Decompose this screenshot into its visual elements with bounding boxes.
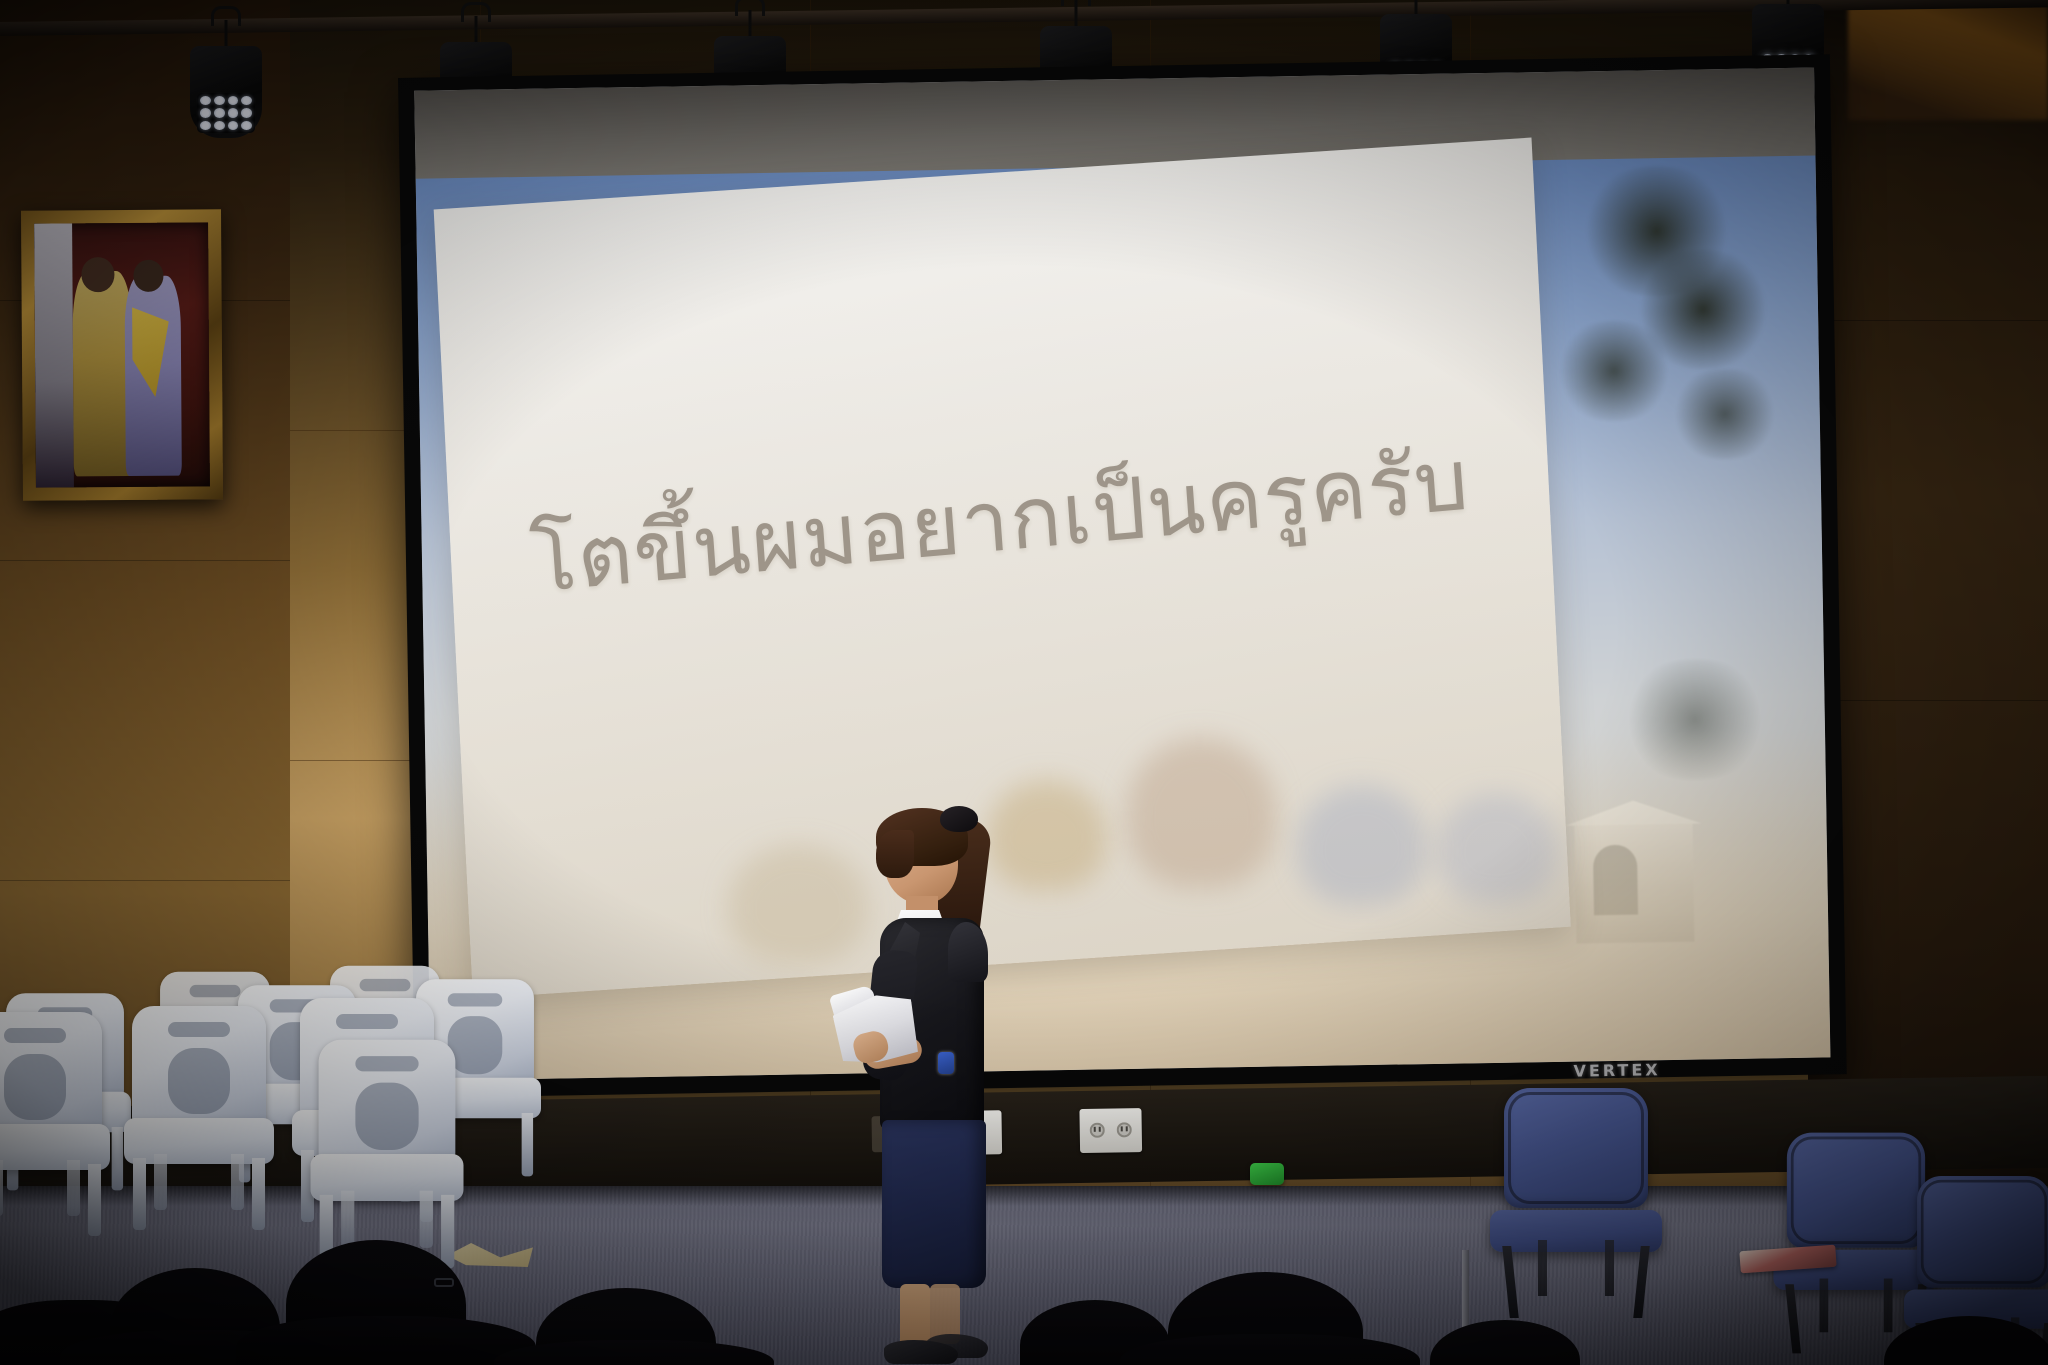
slide-title-text: โตขึ้นผมอยากเป็นครูครับ (448, 425, 1551, 620)
projected-slide: โตขึ้นผมอยากเป็นครูครับ (414, 68, 1830, 1081)
wall-accent-light (1848, 0, 2048, 120)
blue-chair-1[interactable] (1490, 1088, 1662, 1318)
presenter-badge (938, 1052, 954, 1074)
student-presenter (830, 800, 1030, 1365)
projection-screen: โตขึ้นผมอยากเป็นครูครับ VERTEX (398, 54, 1847, 1098)
royal-portrait (21, 209, 223, 500)
green-clip-object (1250, 1163, 1284, 1185)
glasses-icon (434, 1278, 454, 1287)
presenter-fringe (876, 830, 914, 878)
presenter-skirt (882, 1120, 986, 1288)
hair-bow-icon (940, 806, 978, 832)
screen-brand-label: VERTEX (1573, 1060, 1660, 1080)
presenter-leg-front (900, 1284, 930, 1348)
audience-shoulders-2 (236, 1316, 536, 1365)
auditorium-scene: โตขึ้นผมอยากเป็นครูครับ VERTEX (0, 0, 2048, 1365)
white-chair-f1[interactable] (0, 1012, 110, 1232)
white-chair-f4[interactable] (311, 1040, 464, 1264)
stage-light-icon-1 (190, 46, 262, 138)
power-outlet-2 (1079, 1108, 1142, 1153)
white-chair-f2[interactable] (124, 1006, 274, 1226)
